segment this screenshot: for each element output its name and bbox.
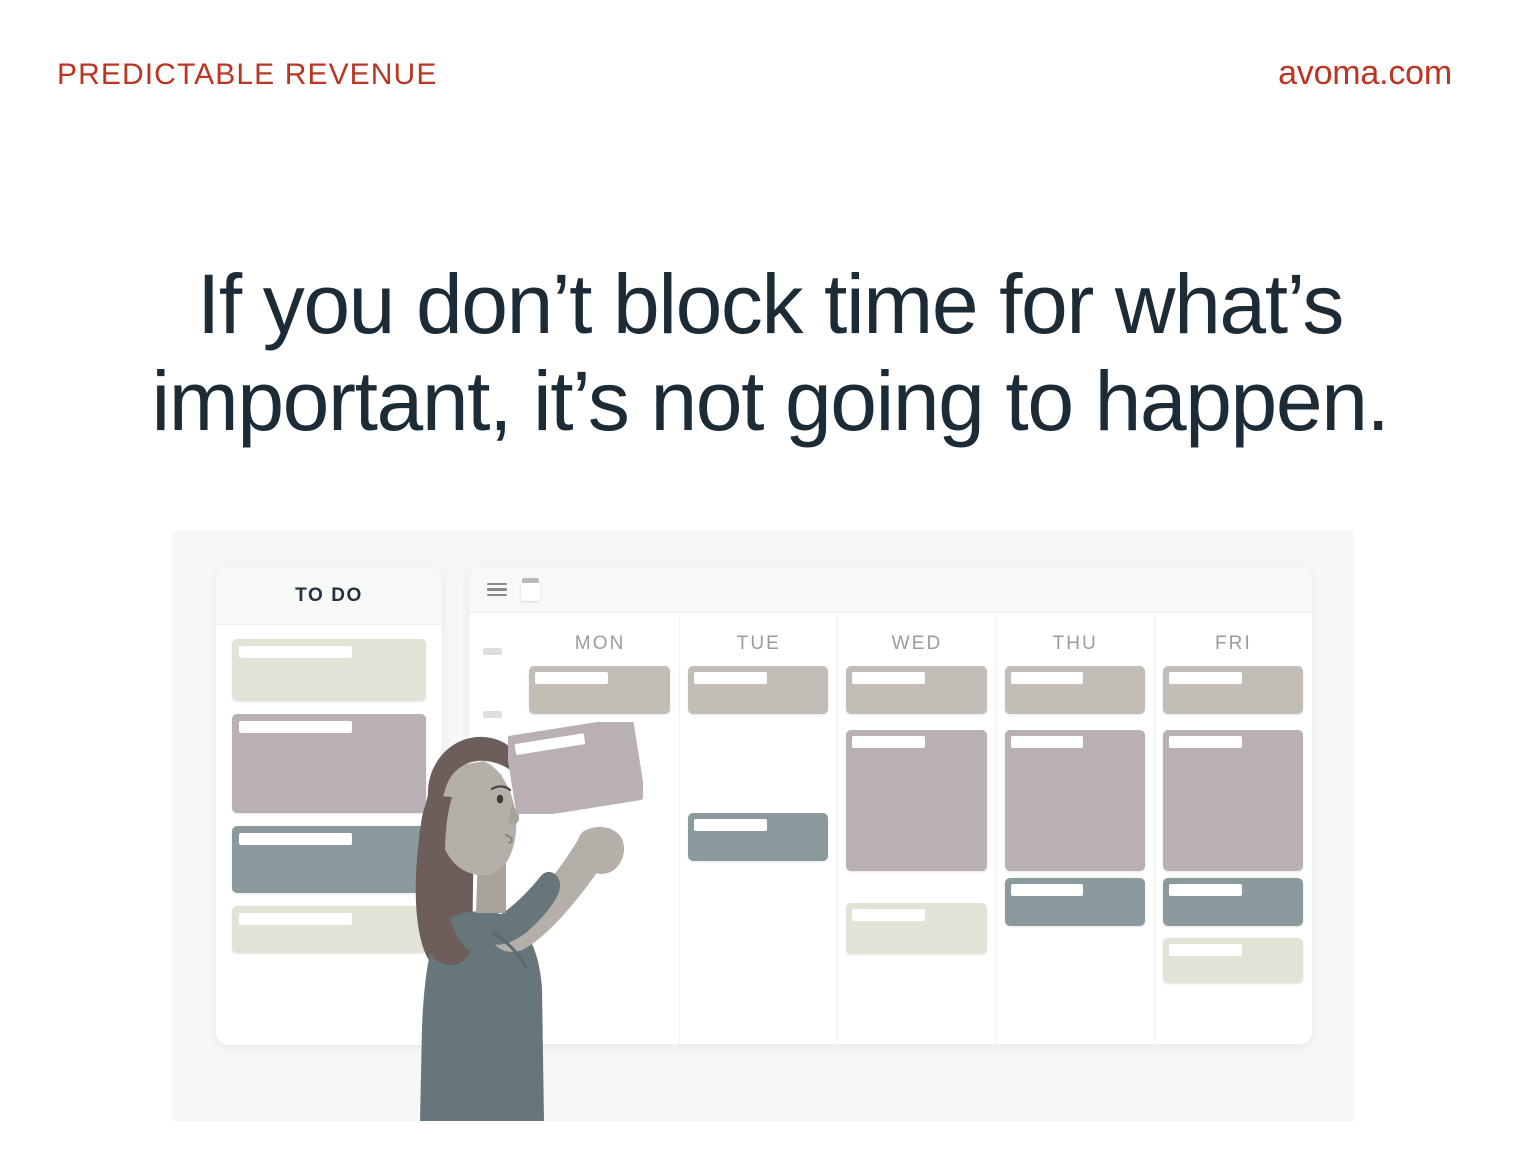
event-title-placeholder bbox=[1011, 672, 1084, 684]
day-label-tue: TUE bbox=[680, 613, 837, 655]
event-title-placeholder bbox=[852, 909, 925, 921]
todo-panel-title: TO DO bbox=[295, 585, 363, 607]
wed-event-3[interactable] bbox=[846, 903, 986, 954]
day-column-tue[interactable]: TUE bbox=[679, 613, 837, 1044]
calendar-toolbar bbox=[469, 567, 1312, 613]
event-title-placeholder bbox=[1169, 884, 1242, 896]
event-title-placeholder bbox=[852, 736, 925, 748]
wed-event-2[interactable] bbox=[846, 730, 986, 871]
page-header: PREDICTABLE REVENUE avoma.com bbox=[0, 0, 1540, 140]
thu-event-2[interactable] bbox=[1005, 730, 1145, 871]
tue-event-1[interactable] bbox=[688, 666, 828, 714]
event-title-placeholder bbox=[694, 819, 767, 831]
day-label-wed: WED bbox=[838, 613, 995, 655]
headline-line-1: If you don’t block time for what’s bbox=[0, 256, 1540, 353]
todo-card-4[interactable] bbox=[232, 906, 426, 953]
todo-card-1[interactable] bbox=[232, 639, 426, 701]
todo-panel-header: TO DO bbox=[216, 567, 442, 625]
headline-line-2: important, it’s not going to happen. bbox=[0, 353, 1540, 450]
event-title-placeholder bbox=[852, 672, 925, 684]
event-title-placeholder bbox=[1169, 736, 1242, 748]
held-calendar-card[interactable] bbox=[508, 722, 643, 814]
calendar-icon[interactable] bbox=[521, 578, 540, 601]
thu-event-3[interactable] bbox=[1005, 878, 1145, 926]
fri-event-1[interactable] bbox=[1163, 666, 1303, 714]
illustration-stage: TO DO MONTUEWEDTHUFRI bbox=[172, 531, 1354, 1121]
wed-event-1[interactable] bbox=[846, 666, 986, 714]
hamburger-icon[interactable] bbox=[487, 583, 507, 597]
fri-event-3[interactable] bbox=[1163, 878, 1303, 926]
event-title-placeholder bbox=[694, 672, 767, 684]
headline: If you don’t block time for what’s impor… bbox=[0, 256, 1540, 450]
day-column-thu[interactable]: THU bbox=[996, 613, 1154, 1044]
fri-event-4[interactable] bbox=[1163, 938, 1303, 983]
todo-card-2[interactable] bbox=[232, 714, 426, 813]
todo-card-title-placeholder bbox=[239, 721, 352, 733]
day-label-fri: FRI bbox=[1155, 613, 1312, 655]
mon-event-1[interactable] bbox=[529, 666, 670, 714]
day-column-fri[interactable]: FRI bbox=[1154, 613, 1312, 1044]
event-title-placeholder bbox=[535, 672, 608, 684]
fri-event-2[interactable] bbox=[1163, 730, 1303, 871]
event-title-placeholder bbox=[1169, 944, 1242, 956]
day-label-thu: THU bbox=[997, 613, 1154, 655]
brand-predictable-revenue: PREDICTABLE REVENUE bbox=[57, 58, 437, 92]
time-tick-1 bbox=[483, 648, 502, 655]
event-title-placeholder bbox=[1011, 736, 1084, 748]
brand-avoma-url: avoma.com bbox=[1278, 54, 1452, 93]
day-label-mon: MON bbox=[521, 613, 679, 655]
thu-event-1[interactable] bbox=[1005, 666, 1145, 714]
tue-event-2[interactable] bbox=[688, 813, 828, 861]
todo-card-3[interactable] bbox=[232, 826, 426, 893]
todo-card-title-placeholder bbox=[239, 833, 352, 845]
day-column-wed[interactable]: WED bbox=[837, 613, 995, 1044]
todo-card-title-placeholder bbox=[239, 646, 352, 658]
time-tick-2 bbox=[483, 711, 502, 718]
event-title-placeholder bbox=[1011, 884, 1084, 896]
event-title-placeholder bbox=[1169, 672, 1242, 684]
todo-card-title-placeholder bbox=[239, 913, 352, 925]
